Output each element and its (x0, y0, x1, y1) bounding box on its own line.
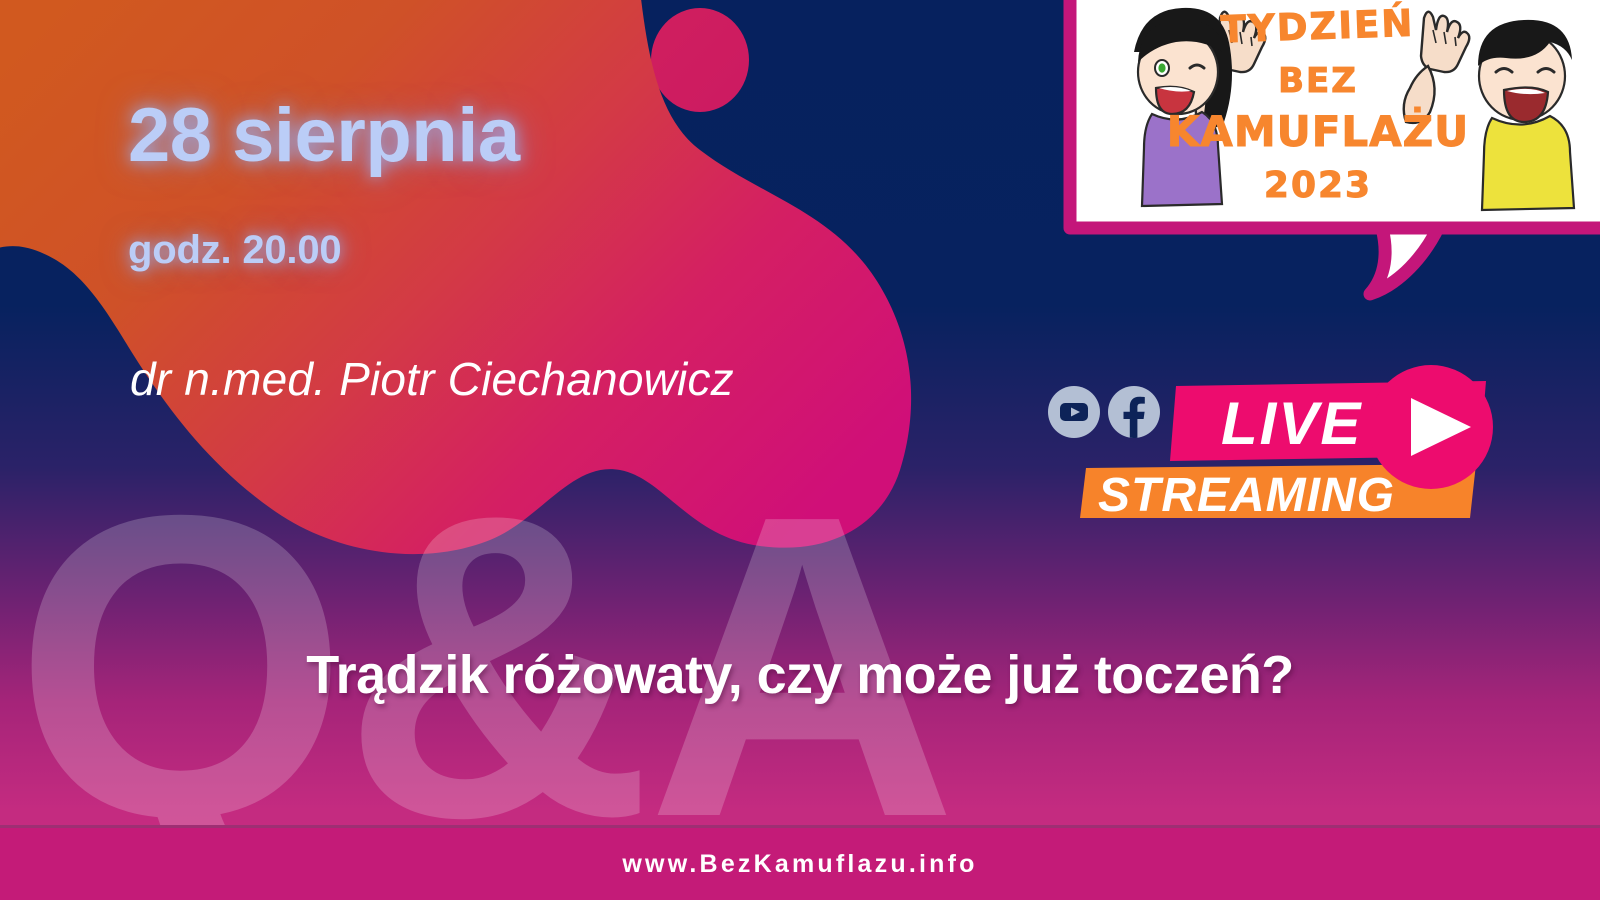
logo-line-1: TYDZIEŃ (1220, 1, 1415, 52)
live-label: LIVE (1221, 390, 1362, 457)
live-streaming-badge: LIVE STREAMING (1046, 378, 1496, 518)
event-headline: Trądzik różowaty, czy może już toczeń? (0, 644, 1600, 706)
decorative-ellipse (651, 8, 749, 112)
logo-line-3: KAMUFLAŻU (1167, 106, 1469, 156)
website-url[interactable]: www.BezKamuflazu.info (622, 850, 977, 879)
logo-line-4: 2023 (1264, 165, 1372, 206)
streaming-label: STREAMING (1098, 469, 1395, 522)
logo-line-2: BEZ (1278, 61, 1358, 101)
promo-poster: Q&A 28 sierpnia godz. 20.00 dr n.med. Pi… (0, 0, 1600, 900)
speaker-name: dr n.med. Piotr Ciechanowicz (130, 352, 734, 406)
footer-bar: www.BezKamuflazu.info (0, 825, 1600, 900)
event-time: godz. 20.00 (128, 228, 341, 273)
event-date: 28 sierpnia (128, 92, 520, 179)
logo-speech-bubble: TYDZIEŃ BEZ KAMUFLAŻU 2023 (1052, 0, 1600, 304)
